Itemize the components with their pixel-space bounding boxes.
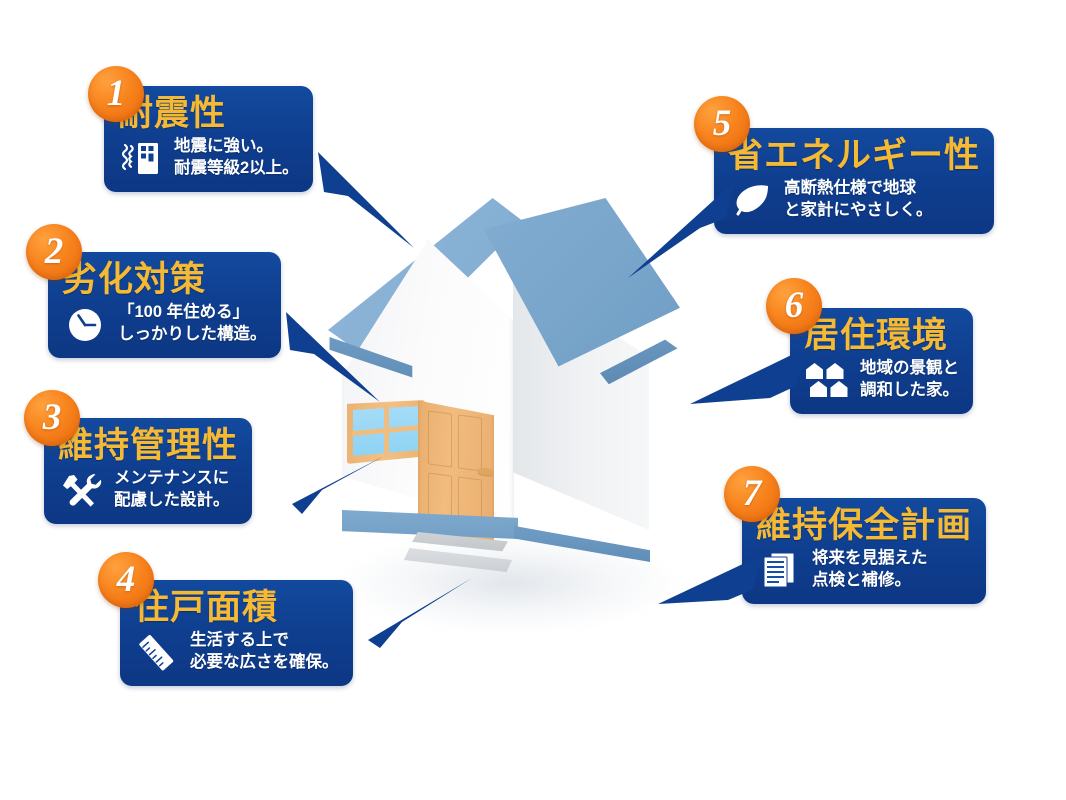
- card-4-body: 生活する上で 必要な広さを確保。: [134, 629, 339, 675]
- card-3-desc-line-2: 配慮した設計。: [114, 490, 230, 512]
- card-2-title: 劣化対策: [62, 260, 267, 299]
- infographic-canvas: 1 耐震性: [0, 0, 1066, 800]
- feature-card-4[interactable]: 4 住戸面積: [120, 580, 353, 686]
- bubble-2[interactable]: 劣化対策 「100 年住める」 しっかりした構造。: [48, 252, 281, 358]
- card-1-desc: 地震に強い。 耐震等級2以上。: [174, 136, 299, 180]
- badge-number-7-text: 7: [743, 475, 762, 512]
- card-2-desc: 「100 年住める」 しっかりした構造。: [118, 302, 267, 346]
- card-7-desc: 将来を見据えた 点検と補修。: [812, 548, 928, 592]
- bubble-tail-3: [292, 456, 402, 546]
- feature-card-1[interactable]: 1 耐震性: [104, 86, 313, 192]
- card-1-title: 耐震性: [118, 94, 299, 133]
- feature-card-2[interactable]: 2 劣化対策 「100 年住める」 しっかりした構造。: [48, 252, 281, 358]
- card-2-body: 「100 年住める」 しっかりした構造。: [62, 301, 267, 347]
- card-2-desc-line-2: しっかりした構造。: [118, 324, 267, 346]
- bubble-tail-4: [368, 578, 488, 668]
- card-4-title: 住戸面積: [134, 588, 339, 627]
- wrench-hammer-icon: [58, 467, 104, 513]
- card-5-title: 省エネルギー性: [728, 136, 980, 175]
- card-1-body: 地震に強い。 耐震等級2以上。: [118, 135, 299, 181]
- card-4-desc-line-1: 生活する上で: [190, 630, 339, 652]
- house-door-panel: [458, 414, 482, 471]
- card-6-title: 居住環境: [804, 316, 959, 355]
- card-5-desc-line-2: と家計にやさしく。: [784, 200, 933, 222]
- card-6-desc-line-1: 地域の景観と: [860, 358, 959, 380]
- bubble-3[interactable]: 維持管理性 メンテナンスに 配慮した設計。: [44, 418, 252, 524]
- card-7-title: 維持保全計画: [756, 506, 972, 545]
- bubble-4[interactable]: 住戸面積: [120, 580, 353, 686]
- card-2-desc-line-1: 「100 年住める」: [118, 302, 267, 324]
- badge-number-3-text: 3: [43, 399, 62, 436]
- badge-number-1: 1: [88, 66, 144, 122]
- card-7-desc-line-2: 点検と補修。: [812, 570, 928, 592]
- badge-number-7: 7: [724, 466, 780, 522]
- card-5-body: 高断熱仕様で地球 と家計にやさしく。: [728, 177, 980, 223]
- card-3-title: 維持管理性: [58, 426, 238, 465]
- bubble-7[interactable]: 維持保全計画: [742, 498, 986, 604]
- card-7-body: 将来を見据えた 点検と補修。: [756, 547, 972, 593]
- feature-card-6[interactable]: 6 居住環境 地域の景観と 調和した家。: [790, 308, 973, 414]
- card-6-desc-line-2: 調和した家。: [860, 380, 959, 402]
- badge-number-1-text: 1: [107, 75, 126, 112]
- badge-number-6: 6: [766, 278, 822, 334]
- card-6-body: 地域の景観と 調和した家。: [804, 357, 959, 403]
- badge-number-5: 5: [694, 96, 750, 152]
- feature-card-7[interactable]: 7 維持保全計画: [742, 498, 986, 604]
- bubble-6[interactable]: 居住環境 地域の景観と 調和した家。: [790, 308, 973, 414]
- card-6-desc: 地域の景観と 調和した家。: [860, 358, 959, 402]
- house-entry-step-lower: [404, 548, 512, 578]
- bubble-tail-6: [686, 342, 812, 452]
- card-3-desc-line-1: メンテナンスに: [114, 468, 230, 490]
- badge-number-5-text: 5: [713, 105, 732, 142]
- house-door-panel: [428, 410, 452, 467]
- card-3-desc: メンテナンスに 配慮した設計。: [114, 468, 230, 512]
- badge-number-2-text: 2: [45, 233, 64, 270]
- badge-number-4: 4: [98, 552, 154, 608]
- card-4-desc-line-2: 必要な広さを確保。: [190, 652, 339, 674]
- card-3-body: メンテナンスに 配慮した設計。: [58, 467, 238, 513]
- card-5-desc: 高断熱仕様で地球 と家計にやさしく。: [784, 178, 933, 222]
- bubble-5[interactable]: 省エネルギー性 高断熱仕様で地球 と家計にやさしく。: [714, 128, 994, 234]
- bubble-tail-5: [618, 180, 738, 290]
- feature-card-5[interactable]: 5 省エネルギー性 高断熱仕様で地球 と家計にやさしく。: [714, 128, 994, 234]
- badge-number-2: 2: [26, 224, 82, 280]
- bubble-tail-2: [286, 312, 396, 412]
- badge-number-4-text: 4: [117, 561, 136, 598]
- card-1-desc-line-2: 耐震等級2以上。: [174, 158, 299, 180]
- bubble-tail-1: [318, 152, 428, 252]
- clock-icon: [62, 301, 108, 347]
- card-7-desc-line-1: 将来を見据えた: [812, 548, 928, 570]
- badge-number-3: 3: [24, 390, 80, 446]
- house-foundation-side: [514, 520, 650, 562]
- badge-number-6-text: 6: [785, 287, 804, 324]
- bubble-tail-7: [656, 550, 766, 650]
- card-4-desc: 生活する上で 必要な広さを確保。: [190, 630, 339, 674]
- building-shaking-icon: [118, 135, 164, 181]
- card-1-desc-line-1: 地震に強い。: [174, 136, 299, 158]
- feature-card-3[interactable]: 3 維持管理性 メンテナンスに 配慮した設計。: [44, 418, 252, 524]
- ruler-icon: [134, 629, 180, 675]
- card-5-desc-line-1: 高断熱仕様で地球: [784, 178, 933, 200]
